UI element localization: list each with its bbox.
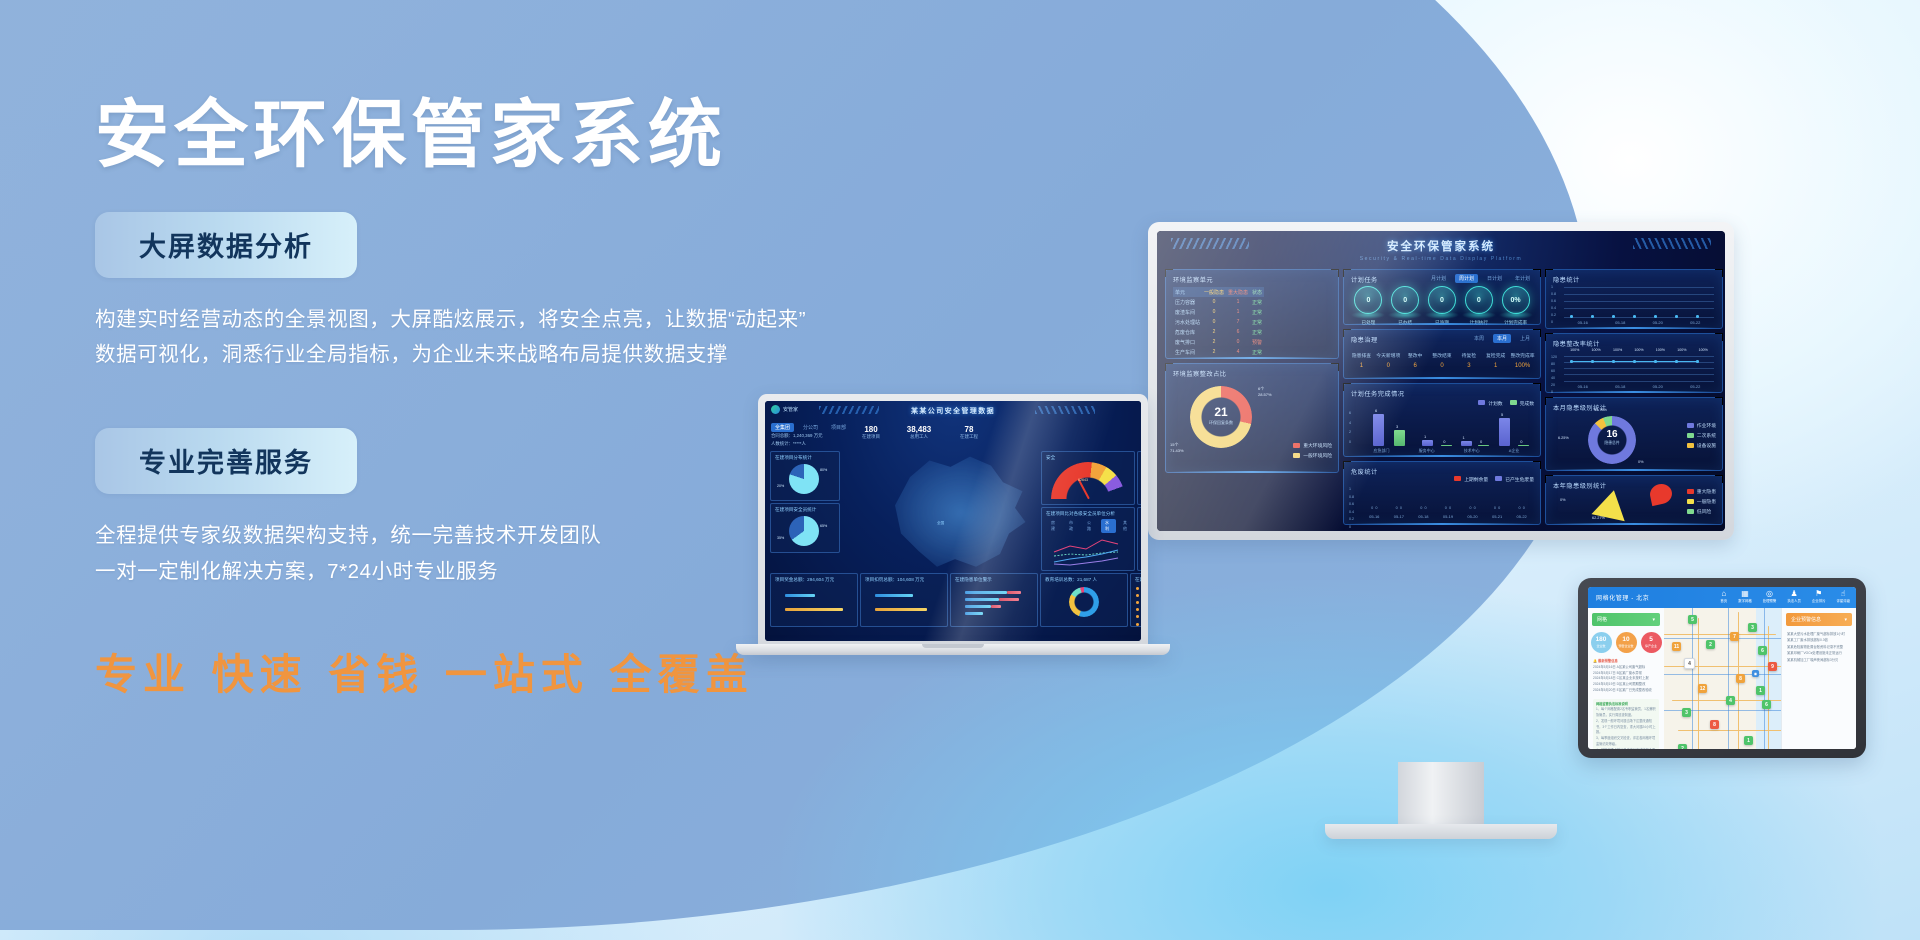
donut-center-value: 21 (1190, 406, 1252, 418)
risk-legend: 上期剩余量 已产生危废量 (1454, 476, 1534, 483)
table-col-unit: 单元 (1173, 287, 1202, 297)
tab-year[interactable]: 年计划 (1511, 274, 1534, 283)
laptop-bottom-card-2: 项目扣罚总额：104,608 万元 (860, 573, 948, 627)
table-col-warn: 一般隐患 (1202, 287, 1226, 297)
hazard-stat-title: 隐患统计 (1553, 275, 1580, 284)
line2-point-labels: 100% 100% 100% 100% 100% 100% 100% (1564, 348, 1714, 352)
tab-month[interactable]: 月计划 (1427, 274, 1450, 283)
year-hazard-pie-card: 本年隐患级别统计 0% 62.27% 重大隐患 一般隐患 低风险 (1545, 475, 1723, 525)
bottom-card-2-title: 项目扣罚总额：104,608 万元 (865, 577, 924, 583)
kpi-value-row: 1 0 6 0 3 1 100% (1348, 363, 1536, 369)
laptop-stat-people: 人数统计：*****人 (771, 441, 806, 447)
env-rectify-donut-card: 环境监察整改占比 21 环保回复条数 6个28.57% 15个71.43% (1165, 363, 1339, 473)
laptop-mockup: 安管家 某某公司安全管理数据 全集团 分公司 项目部 合同总额：1,240,36… (758, 394, 1148, 650)
map-marker[interactable]: 11 (1672, 642, 1681, 651)
donut-slice2-label: 15个71.43% (1170, 442, 1184, 454)
bigscreen-dashboard: 安全环保管家系统 Security & Real-time Data Displ… (1157, 231, 1725, 531)
laptop-pie2-card: 在建项目安全员统计 65% 35% (770, 503, 840, 553)
laptop-scope-tabs[interactable]: 全集团 分公司 项目部 (771, 423, 850, 432)
enterprise-alert-title: 企业预警信息 (1791, 616, 1821, 623)
hazard-governance-tabs[interactable]: 本周 本月 上月 (1470, 334, 1534, 343)
tab-last-month[interactable]: 上月 (1516, 334, 1534, 343)
laptop-dashboard: 安管家 某某公司安全管理数据 全集团 分公司 项目部 合同总额：1,240,36… (765, 401, 1141, 641)
donut-center-label: 环保回复条数 (1190, 420, 1252, 426)
tablet-left-panel: 网格 ▾ 180企业数 10预警企业数 5停产企业 🔔 最新预警信息 2024年… (1588, 608, 1665, 749)
tab-project[interactable]: 项目部 (827, 423, 850, 432)
donut-slice1-label: 6个28.57% (1258, 386, 1272, 398)
line1-x-axis: 05-16 05-18 05-20 05-22 (1564, 320, 1714, 325)
bar-legend: 计划数 完成数 (1478, 400, 1534, 407)
rectify-rate-title: 隐患整改率统计 (1553, 339, 1600, 348)
map-marker[interactable]: 8 (1710, 720, 1719, 729)
dashboard-header: 安全环保管家系统 Security & Real-time Data Displ… (1157, 231, 1725, 265)
line1-y-axis: 1 0.8 0.6 0.4 0.2 0 (1551, 286, 1556, 325)
donut2-center: 16 隐患总件 (1588, 430, 1636, 446)
device-mockups: 安全环保管家系统 Security & Real-time Data Displ… (0, 0, 1920, 940)
tablet-right-panel: 企业预警信息 ▾ 某某大型污水处理厂废气超标排放1小时 某某工厂废水排放超标0.… (1781, 608, 1856, 749)
donut2-label-top: 93.75% (1594, 408, 1607, 412)
env-unit-table-card: 环境监察单元 单元 一般隐患 重大隐患 状态 压力容器01正常 废渣车间01正常… (1165, 269, 1339, 359)
laptop-kpi-2: 38,483总用工人 (897, 425, 941, 440)
stat-circle-warnings: 10预警企业数 (1616, 632, 1637, 653)
line2-y-axis: 120 80 60 40 20 0 (1551, 356, 1557, 395)
metric-item: 0已逾期 (1424, 286, 1461, 326)
tab-this-week[interactable]: 本周 (1470, 334, 1488, 343)
map-marker[interactable]: 1 (1756, 686, 1765, 695)
dashboard-subtitle: Security & Real-time Data Display Platfo… (1157, 256, 1725, 262)
laptop-dashboard-header: 安管家 某某公司安全管理数据 (765, 401, 1141, 421)
laptop-gauge-card: 安全 62643 (1041, 451, 1135, 505)
metric-item: 0%计划完成率 (1497, 286, 1534, 326)
donut2-value: 16 (1588, 430, 1636, 440)
laptop-brand: 安管家 (771, 405, 798, 414)
laptop-screen: 安管家 某某公司安全管理数据 全集团 分公司 项目部 合同总额：1,240,36… (765, 401, 1141, 641)
laptop-base-notch (922, 644, 984, 648)
metric-item: 0计划执行 (1460, 286, 1497, 326)
laptop-hbar-card: 在建项目每月分析对比 总产值：16043万元 增长率：3.48%比上月 华东区 … (1137, 507, 1141, 571)
list-item: 某某印刷厂VOCs处理设施未正常运行 (1787, 650, 1851, 656)
map-marker[interactable]: 9 (1768, 662, 1777, 671)
tablet-app-header: 网格化管理 - 北京 ⌂首页 ▦数字网格 ◎处理预警 ♟执法人员 ⚑企业排污 ☝… (1588, 587, 1856, 608)
bottom-card-5-title: 在建项目隐患通报 (1135, 577, 1141, 583)
bottom-card-4-title: 教育培训总数：21,687 人 (1045, 577, 1097, 583)
map-marker[interactable]: 12 (1698, 684, 1707, 693)
tablet-screen: 网格化管理 - 北京 ⌂首页 ▦数字网格 ◎处理预警 ♟执法人员 ⚑企业排污 ☝… (1588, 587, 1856, 749)
line1-plot (1564, 287, 1714, 318)
donut2-legend: 作业环境 二次系统 设备设施 (1687, 422, 1716, 452)
env-unit-table-title: 环境监察单元 (1173, 275, 1213, 284)
bar-x-axis: 应急部门 服务中心 技术中心 A企业 (1359, 448, 1534, 454)
home-icon[interactable]: ⌂首页 (1720, 590, 1727, 603)
env-unit-table: 单元 一般隐患 重大隐患 状态 压力容器01正常 废渣车间01正常 污水处理站0… (1173, 287, 1264, 357)
list-item: 某某机械加工厂噪声夜间超标3分贝 (1787, 657, 1851, 663)
table-row: 生产车间24正常 (1173, 347, 1264, 357)
table-row: 压力容器01正常 (1173, 297, 1264, 307)
laptop-kpi-3: 78在建工程 (951, 425, 987, 440)
hazard-governance-title: 隐患治理 (1351, 335, 1378, 344)
monitor-neck (1398, 762, 1484, 828)
map-marker[interactable]: 7 (1730, 632, 1739, 641)
donut-center: 21 环保回复条数 (1190, 406, 1252, 426)
tablet-stat-circles: 180企业数 10预警企业数 5停产企业 (1588, 632, 1664, 653)
map-marker[interactable]: 6 (1758, 646, 1767, 655)
bottom-card-1-title: 项目奖金总额：294,604 万元 (775, 577, 834, 583)
map-marker[interactable]: 5 (1688, 615, 1697, 624)
map-marker[interactable]: 8 (1736, 674, 1745, 683)
grid-select-label: 网格 (1597, 616, 1607, 623)
map-marker[interactable]: 2 (1678, 744, 1687, 749)
factory-icon[interactable]: ⚑企业排污 (1812, 590, 1826, 603)
pie3-legend: 重大隐患 一般隐患 低风险 (1687, 488, 1716, 518)
laptop-pie1-title: 在建项目分布统计 (775, 455, 812, 461)
risk-y-axis: 1 0.8 0.6 0.4 0.2 0 (1349, 488, 1354, 530)
map-center-marker[interactable]: ◉ (1752, 670, 1759, 677)
tablet-grid-map[interactable]: 5 3 7 11 2 6 4 9 8 12 1 4 6 3 8 1 2 (1664, 608, 1782, 749)
tab-group[interactable]: 全集团 (771, 423, 794, 432)
tab-this-month[interactable]: 本月 (1493, 334, 1511, 343)
kpi-header-row: 隐患排查 今天新增项 整改中 整改结束 待复检 复检完成 整改完成率 (1348, 352, 1536, 359)
donut2-label: 隐患总件 (1588, 441, 1636, 446)
tab-week[interactable]: 周计划 (1455, 274, 1478, 283)
donut2-label-bottom: 0% (1638, 460, 1644, 464)
map-label: 全国 (937, 521, 944, 526)
person-icon[interactable]: ♟执法人员 (1787, 590, 1801, 603)
laptop-training-donut (1069, 587, 1099, 617)
thumb-icon[interactable]: ☝评星评级 (1836, 590, 1850, 603)
table-row: 废气排口20预警 (1173, 337, 1264, 347)
grid-icon[interactable]: ▦数字网格 (1738, 590, 1752, 603)
tablet-mockup: 网格化管理 - 北京 ⌂首页 ▦数字网格 ◎处理预警 ♟执法人员 ⚑企业排污 ☝… (1578, 578, 1866, 758)
map-marker[interactable]: 2 (1706, 640, 1715, 649)
risk-x-axis: 05-16 05-17 05-18 05-19 05-20 05-21 05-2… (1362, 514, 1534, 519)
table-row: 废渣车间01正常 (1173, 307, 1264, 317)
laptop-pie2 (789, 516, 819, 546)
hazardous-waste-title: 危废统计 (1351, 467, 1378, 476)
map-marker[interactable]: 4 (1684, 658, 1695, 669)
laptop-pie2-title: 在建项目安全员统计 (775, 507, 816, 513)
table-col-risk: 重大隐患 (1226, 287, 1250, 297)
tablet-rules: 网格监管执法标准说明 1、每个网格配置2名专职监管员，1名兼职协管员，实行周巡查… (1593, 699, 1659, 749)
metric-item: 0已处理 (1350, 286, 1387, 326)
map-marker[interactable]: 6 (1762, 700, 1771, 709)
brand-logo-icon (771, 405, 780, 414)
chevron-down-icon[interactable]: ▾ (1652, 617, 1655, 623)
laptop-area-card: ● (1137, 451, 1141, 505)
promo-banner: 安全环保管家系统 大屏数据分析 构建实时经营动态的全景视图，大屏酷炫展示，将安全… (0, 0, 1920, 940)
china-map (883, 449, 1033, 577)
hazard-stat-line-card: 隐患统计 1 0.8 0.6 0.4 0.2 0 (1545, 269, 1723, 329)
line2-x-axis: 05-16 05-18 05-20 05-22 (1564, 384, 1714, 389)
tablet-app-title: 网格化管理 - 北京 (1596, 593, 1649, 602)
tab-day[interactable]: 日计划 (1483, 274, 1506, 283)
enterprise-alert-list: 某某大型污水处理厂废气超标排放1小时 某某工厂废水排放超标0.3倍 某某危险废物… (1787, 631, 1851, 663)
pie3-label-bottom: 62.27% (1592, 516, 1605, 520)
alert-icon[interactable]: ◎处理预警 (1763, 590, 1777, 603)
table-row: 危废仓库26正常 (1173, 327, 1264, 337)
tablet-nav[interactable]: ⌂首页 ▦数字网格 ◎处理预警 ♟执法人员 ⚑企业排污 ☝评星评级 (1720, 590, 1850, 603)
chevron-down-icon[interactable]: ▾ (1844, 617, 1847, 623)
table-header-row: 单元 一般隐患 重大隐患 状态 (1173, 287, 1264, 297)
map-marker[interactable]: 3 (1682, 708, 1691, 717)
tablet-alert-notes: 🔔 最新预警信息 2024年5月16日 A区某公司废气超标 2024年5月17日… (1593, 659, 1659, 694)
map-marker[interactable]: 1 (1744, 736, 1753, 745)
gauge-chart (1051, 462, 1125, 499)
laptop-bottom-card-4: 教育培训总数：21,687 人 (1040, 573, 1128, 627)
pie3-wedge-red (1648, 482, 1674, 506)
map-marker[interactable]: 3 (1748, 623, 1757, 632)
laptop-bottom-card-5: 在建项目隐患通报 某某项目部于5月16日发生一起安全隐患 某某项目部于5月17日… (1130, 573, 1141, 627)
laptop-bottom-card-1: 项目奖金总额：294,604 万元 (770, 573, 858, 627)
tab-branch[interactable]: 分公司 (799, 423, 822, 432)
line2-plot (1564, 356, 1714, 382)
laptop-pie1-card: 在建项目分布统计 80% 20% (770, 451, 840, 501)
laptop-pie1 (789, 464, 819, 494)
plan-task-tabs[interactable]: 月计划 周计划 日计划 年计划 (1427, 274, 1534, 283)
env-rectify-donut-title: 环境监察整改占比 (1173, 369, 1227, 378)
hazard-governance-card: 隐患治理 本周 本月 上月 隐患排查 今天新增项 整改中 整改结束 待复检 (1343, 329, 1541, 379)
laptop-bottom-card-3: 在建隐患单位警示 (950, 573, 1038, 627)
monitor-screen: 安全环保管家系统 Security & Real-time Data Displ… (1157, 231, 1725, 531)
laptop-notice-list: 某某项目部于5月16日发生一起安全隐患 某某项目部于5月17日发生一起安全隐患 … (1136, 585, 1141, 628)
laptop-area-chart (1138, 452, 1141, 504)
map-marker[interactable]: 4 (1726, 696, 1735, 705)
table-row: 污水处理站07正常 (1173, 317, 1264, 327)
gauge-value: 62643 (1078, 478, 1088, 482)
risk-zero-values: 0 00 00 0 0 00 00 00 0 (1362, 506, 1534, 510)
laptop-multiline-title: 在建项目比对各级安全员单位分析 (1046, 511, 1115, 517)
stat-circle-shutdown: 5停产企业 (1641, 632, 1662, 653)
plan-completion-title: 计划任务完成情况 (1351, 389, 1405, 398)
grid-select[interactable]: 网格 ▾ (1592, 613, 1660, 626)
bar-plot-area: 6 3 1 0 1 0 5 0 (1359, 412, 1534, 446)
stat-circle-enterprises: 180企业数 (1591, 632, 1612, 653)
monitor-foot (1325, 824, 1557, 839)
header-deco-right-icon (1633, 238, 1711, 249)
donut2-label-left: 6.25% (1558, 436, 1569, 440)
plan-task-title: 计划任务 (1351, 275, 1378, 284)
plan-task-metrics: 0已处理 0已办结 0已逾期 0计划执行 0%计划完成率 (1350, 286, 1534, 326)
laptop-gauge-title: 安全 (1046, 455, 1055, 461)
laptop-multiline-card: 在建项目比对各级安全员单位分析 房建 市政 公路 水利 其他 (1041, 507, 1135, 571)
bottom-card-3-title: 在建隐患单位警示 (955, 577, 992, 583)
pie3-label-left: 0% (1560, 498, 1566, 502)
header-deco-left-icon (1171, 238, 1249, 249)
plan-task-card: 计划任务 月计划 周计划 日计划 年计划 0已处理 0已办结 0已逾期 0计划执… (1343, 269, 1541, 325)
desktop-monitor-mockup: 安全环保管家系统 Security & Real-time Data Displ… (1148, 222, 1734, 540)
enterprise-alert-header[interactable]: 企业预警信息 ▾ (1786, 613, 1852, 626)
month-hazard-donut-card: 本月隐患级别统计 16 隐患总件 93.75% 6.25% 0% 作业环境 二次… (1545, 397, 1723, 471)
plan-completion-bar-card: 计划任务完成情况 计划数 完成数 6 4 2 0 6 (1343, 383, 1541, 457)
hazardous-waste-card: 危废统计 上期剩余量 已产生危废量 1 0.8 0.6 0.4 0.2 0 (1343, 461, 1541, 525)
metric-item: 0已办结 (1387, 286, 1424, 326)
table-col-state: 状态 (1250, 287, 1264, 297)
bar-y-axis: 6 4 2 0 (1349, 412, 1351, 444)
laptop-kpi-1: 180在建项目 (853, 425, 889, 440)
laptop-stat-contract: 合同总额：1,240,369 万元 (771, 433, 823, 439)
rectify-rate-line-card: 隐患整改率统计 100% 100% 100% 100% 100% 100% 10… (1545, 333, 1723, 393)
laptop-multiline-chart (1042, 528, 1134, 572)
donut-legend: 重大环境风险 一般环境风险 (1293, 442, 1332, 462)
